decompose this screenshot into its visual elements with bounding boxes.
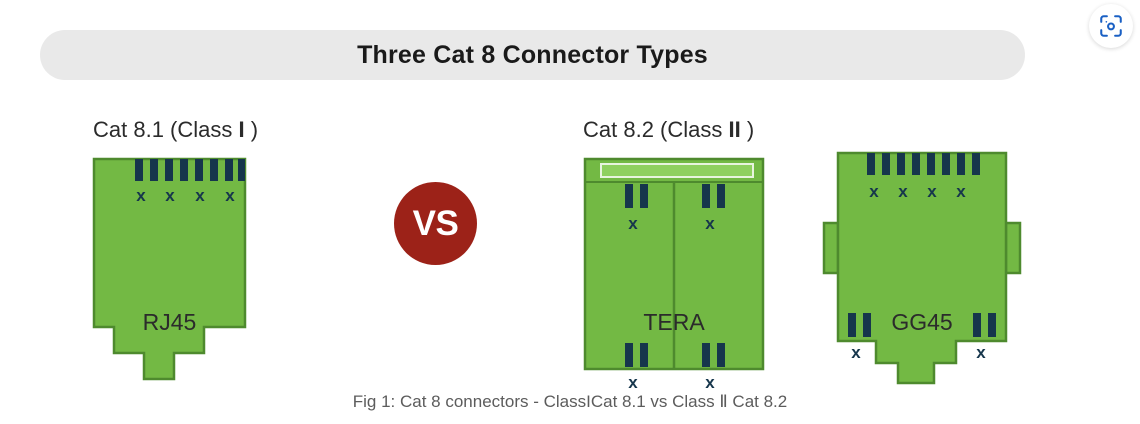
svg-text:x: x — [705, 214, 715, 233]
figure-caption: Fig 1: Cat 8 connectors - ClassICat 8.1 … — [0, 392, 1140, 412]
class-label-cat82-numeral: II — [729, 117, 741, 142]
scan-lens-icon — [1098, 13, 1124, 39]
svg-text:x: x — [976, 343, 986, 362]
vs-badge: VS — [394, 182, 477, 265]
class-label-cat82: Cat 8.2 (Class II ) — [583, 117, 754, 143]
class-label-cat82-suffix: ) — [741, 117, 754, 142]
x-marks-bottom-tera: x x — [628, 373, 715, 392]
connector-diagram-rj45: x x x x — [92, 157, 247, 392]
connector-diagram-tera: x x x x — [583, 157, 765, 392]
class-label-cat81-prefix: Cat 8.1 (Class — [93, 117, 239, 142]
class-label-cat81-suffix: ) — [245, 117, 258, 142]
svg-text:x: x — [956, 182, 966, 201]
svg-text:x: x — [628, 214, 638, 233]
svg-text:x: x — [705, 373, 715, 392]
connector-figure: Cat 8.1 (Class I ) Cat 8.2 (Class II ) x… — [0, 95, 1140, 355]
svg-text:x: x — [195, 186, 205, 205]
svg-text:x: x — [628, 373, 638, 392]
connector-name-tera: TERA — [583, 309, 765, 336]
scan-image-button[interactable] — [1089, 4, 1133, 48]
svg-text:x: x — [225, 186, 235, 205]
svg-text:x: x — [927, 182, 937, 201]
svg-text:x: x — [165, 186, 175, 205]
connector-name-gg45: GG45 — [822, 309, 1022, 336]
svg-text:x: x — [898, 182, 908, 201]
section-title-banner: Three Cat 8 Connector Types — [40, 30, 1025, 80]
vs-badge-label: VS — [413, 204, 459, 244]
svg-text:x: x — [869, 182, 879, 201]
svg-text:x: x — [136, 186, 146, 205]
svg-text:x: x — [851, 343, 861, 362]
connector-name-rj45: RJ45 — [92, 309, 247, 336]
class-label-cat82-prefix: Cat 8.2 (Class — [583, 117, 729, 142]
page-title: Three Cat 8 Connector Types — [357, 41, 708, 70]
class-label-cat81: Cat 8.1 (Class I ) — [93, 117, 258, 143]
connector-diagram-gg45: x x x x x x — [822, 145, 1022, 395]
